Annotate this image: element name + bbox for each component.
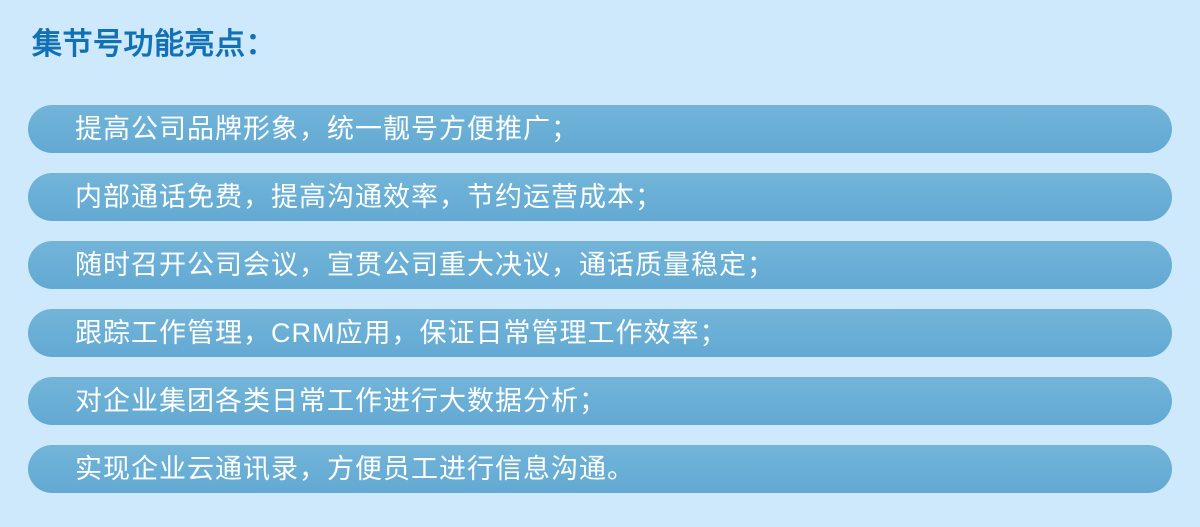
slide-canvas: 集节号功能亮点： 提高公司品牌形象，统一靓号方便推广； 内部通话免费，提高沟通效… xyxy=(0,0,1200,527)
highlight-label: 随时召开公司会议，宣贯公司重大决议，通话质量稳定； xyxy=(28,250,775,280)
highlight-label: 跟踪工作管理，CRM应用，保证日常管理工作效率； xyxy=(28,318,728,348)
list-item: 跟踪工作管理，CRM应用，保证日常管理工作效率； xyxy=(28,309,1172,357)
highlight-label: 实现企业云通讯录，方便员工进行信息沟通。 xyxy=(28,454,635,484)
highlight-label: 提高公司品牌形象，统一靓号方便推广； xyxy=(28,114,579,144)
highlight-label: 对企业集团各类日常工作进行大数据分析； xyxy=(28,386,607,416)
list-item: 随时召开公司会议，宣贯公司重大决议，通话质量稳定； xyxy=(28,241,1172,289)
highlight-label: 内部通话免费，提高沟通效率，节约运营成本； xyxy=(28,182,663,212)
highlight-list: 提高公司品牌形象，统一靓号方便推广； 内部通话免费，提高沟通效率，节约运营成本；… xyxy=(28,105,1172,493)
list-item: 内部通话免费，提高沟通效率，节约运营成本； xyxy=(28,173,1172,221)
list-item: 对企业集团各类日常工作进行大数据分析； xyxy=(28,377,1172,425)
page-title: 集节号功能亮点： xyxy=(32,28,276,62)
list-item: 提高公司品牌形象，统一靓号方便推广； xyxy=(28,105,1172,153)
list-item: 实现企业云通讯录，方便员工进行信息沟通。 xyxy=(28,445,1172,493)
